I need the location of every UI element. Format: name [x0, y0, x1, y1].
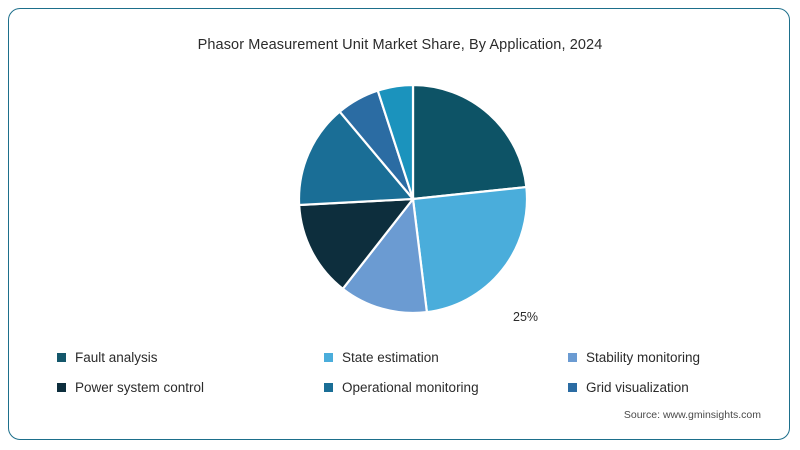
legend-row: Fault analysis State estimation Stabilit… [57, 342, 757, 372]
legend-swatch-icon [57, 353, 66, 362]
legend-swatch-icon [568, 353, 577, 362]
legend-swatch-icon [57, 383, 66, 392]
chart-legend: Fault analysis State estimation Stabilit… [57, 342, 757, 402]
legend-item-label: Operational monitoring [342, 380, 479, 395]
legend-item-label: Grid visualization [586, 380, 689, 395]
legend-item-label: Power system control [75, 380, 204, 395]
legend-item-label: Fault analysis [75, 350, 158, 365]
legend-row: Power system control Operational monitor… [57, 372, 757, 402]
legend-swatch-icon [324, 383, 333, 392]
legend-item-power-system-control[interactable]: Power system control [57, 380, 324, 395]
legend-item-fault-analysis[interactable]: Fault analysis [57, 350, 324, 365]
pie-data-label-state-estimation: 25% [513, 310, 538, 324]
legend-item-grid-visualization[interactable]: Grid visualization [568, 380, 757, 395]
legend-item-label: State estimation [342, 350, 439, 365]
pie-slice[interactable] [413, 85, 526, 199]
legend-item-stability-monitoring[interactable]: Stability monitoring [568, 350, 757, 365]
pie-chart-svg [9, 71, 791, 321]
legend-swatch-icon [324, 353, 333, 362]
chart-card: Phasor Measurement Unit Market Share, By… [8, 8, 790, 440]
legend-swatch-icon [568, 383, 577, 392]
legend-item-state-estimation[interactable]: State estimation [324, 350, 568, 365]
pie-chart: 25% [9, 71, 791, 321]
page-title: Phasor Measurement Unit Market Share, By… [9, 37, 791, 53]
source-attribution: Source: www.gminsights.com [624, 409, 761, 421]
legend-item-operational-monitoring[interactable]: Operational monitoring [324, 380, 568, 395]
pie-slice-group [299, 85, 527, 313]
pie-slice[interactable] [413, 187, 527, 312]
legend-item-label: Stability monitoring [586, 350, 700, 365]
